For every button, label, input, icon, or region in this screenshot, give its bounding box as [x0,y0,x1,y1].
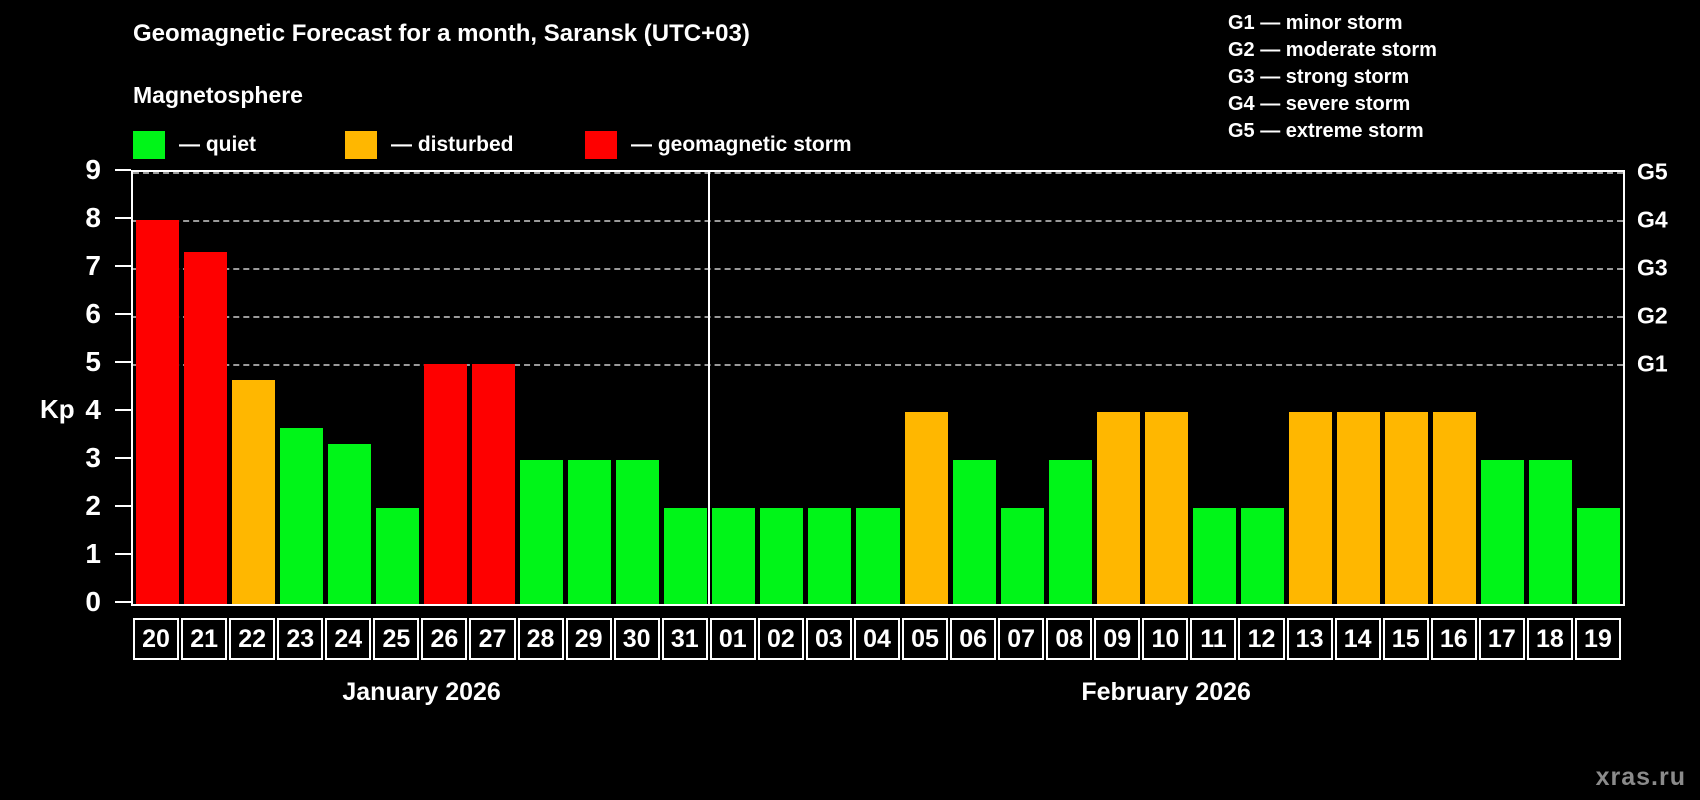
date-cell-25[interactable]: 25 [373,618,419,660]
bar-day-16[interactable] [1433,412,1476,604]
g-legend-row-2: G2 — moderate storm [1228,37,1437,64]
bar-day-03[interactable] [808,508,851,604]
bar-day-02[interactable] [760,508,803,604]
date-cell-04[interactable]: 04 [854,618,900,660]
bar-day-27[interactable] [472,364,515,604]
g-legend-row-4: G4 — severe storm [1228,91,1437,118]
y-tick-label-9: 9 [85,154,101,186]
bar-day-25[interactable] [376,508,419,604]
date-cell-14[interactable]: 14 [1335,618,1381,660]
y-tick-mark-2 [115,505,131,507]
date-cell-31[interactable]: 31 [662,618,708,660]
y-tick-label-1: 1 [85,538,101,570]
legend-swatch-quiet [133,131,165,159]
watermark: xras.ru [1596,763,1686,792]
g-scale-legend: G1 — minor stormG2 — moderate stormG3 — … [1228,10,1437,145]
month-caption-february: February 2026 [1081,678,1251,707]
bar-day-06[interactable] [953,460,996,604]
bar-day-01[interactable] [712,508,755,604]
date-cell-18[interactable]: 18 [1527,618,1573,660]
y-tick-mark-8 [115,217,131,219]
y-axis-title: Kp [40,394,75,425]
bar-day-08[interactable] [1049,460,1092,604]
date-cell-28[interactable]: 28 [518,618,564,660]
y-tick-mark-7 [115,265,131,267]
y-tick-label-8: 8 [85,202,101,234]
bar-day-19[interactable] [1577,508,1620,604]
date-cell-06[interactable]: 06 [950,618,996,660]
bar-day-18[interactable] [1529,460,1572,604]
y-tick-label-6: 6 [85,298,101,330]
date-cell-17[interactable]: 17 [1479,618,1525,660]
y-tick-label-3: 3 [85,442,101,474]
date-cell-05[interactable]: 05 [902,618,948,660]
bar-day-17[interactable] [1481,460,1524,604]
bar-day-15[interactable] [1385,412,1428,604]
date-cell-22[interactable]: 22 [229,618,275,660]
bar-day-28[interactable] [520,460,563,604]
g-axis-label-G5: G5 [1637,159,1668,186]
date-cell-10[interactable]: 10 [1142,618,1188,660]
g-axis-label-G4: G4 [1637,207,1668,234]
y-tick-mark-3 [115,457,131,459]
bar-day-21[interactable] [184,252,227,604]
date-cell-07[interactable]: 07 [998,618,1044,660]
date-cell-30[interactable]: 30 [614,618,660,660]
bar-day-04[interactable] [856,508,899,604]
legend-item-quiet: — quiet [133,130,256,160]
y-tick-mark-4 [115,409,131,411]
date-cell-11[interactable]: 11 [1190,618,1236,660]
legend-item-disturbed: — disturbed [345,130,514,160]
bar-day-24[interactable] [328,444,371,604]
date-cell-27[interactable]: 27 [469,618,515,660]
bar-day-29[interactable] [568,460,611,604]
date-cell-15[interactable]: 15 [1383,618,1429,660]
page-title: Geomagnetic Forecast for a month, Sarans… [133,20,750,48]
month-caption-january: January 2026 [342,678,500,707]
y-tick-mark-6 [115,313,131,315]
date-cell-08[interactable]: 08 [1046,618,1092,660]
y-axis: 0123456789 [0,170,131,606]
legend-label-geomagnetic-storm: — geomagnetic storm [631,133,852,157]
chart-subtitle: Magnetosphere [133,82,303,109]
date-cell-23[interactable]: 23 [277,618,323,660]
y-tick-mark-0 [115,601,131,603]
legend-label-quiet: — quiet [179,133,256,157]
date-cell-20[interactable]: 20 [133,618,179,660]
date-cell-01[interactable]: 01 [710,618,756,660]
bar-day-10[interactable] [1145,412,1188,604]
bar-day-11[interactable] [1193,508,1236,604]
bar-day-23[interactable] [280,428,323,604]
y-tick-mark-9 [115,169,131,171]
legend-swatch-disturbed [345,131,377,159]
bar-day-30[interactable] [616,460,659,604]
g-legend-row-5: G5 — extreme storm [1228,118,1437,145]
g-legend-row-1: G1 — minor storm [1228,10,1437,37]
bar-day-13[interactable] [1289,412,1332,604]
bar-day-20[interactable] [136,220,179,604]
chart-root: Geomagnetic Forecast for a month, Sarans… [0,0,1700,800]
date-cell-02[interactable]: 02 [758,618,804,660]
date-cell-12[interactable]: 12 [1238,618,1284,660]
date-cell-29[interactable]: 29 [566,618,612,660]
date-cell-13[interactable]: 13 [1287,618,1333,660]
y-tick-mark-1 [115,553,131,555]
g-axis-label-G2: G2 [1637,303,1668,330]
g-legend-row-3: G3 — strong storm [1228,64,1437,91]
bar-series [133,172,1623,604]
date-cell-03[interactable]: 03 [806,618,852,660]
date-cell-21[interactable]: 21 [181,618,227,660]
legend-swatch-geomagnetic-storm [585,131,617,159]
y-tick-label-4: 4 [85,394,101,426]
date-axis: 2021222324252627282930310102030405060708… [131,618,1625,660]
g-axis-label-G3: G3 [1637,255,1668,282]
bar-day-12[interactable] [1241,508,1284,604]
bar-day-07[interactable] [1001,508,1044,604]
date-cell-09[interactable]: 09 [1094,618,1140,660]
y-tick-label-2: 2 [85,490,101,522]
y-tick-label-0: 0 [85,586,101,618]
legend-item-geomagnetic-storm: — geomagnetic storm [585,130,852,160]
bar-day-31[interactable] [664,508,707,604]
bar-day-14[interactable] [1337,412,1380,604]
bar-day-22[interactable] [232,380,275,604]
bar-day-26[interactable] [424,364,467,604]
g-axis-label-G1: G1 [1637,351,1668,378]
bar-day-09[interactable] [1097,412,1140,604]
y-tick-mark-5 [115,361,131,363]
date-cell-26[interactable]: 26 [421,618,467,660]
y-tick-label-7: 7 [85,250,101,282]
date-cell-24[interactable]: 24 [325,618,371,660]
date-cell-19[interactable]: 19 [1575,618,1621,660]
bar-day-05[interactable] [905,412,948,604]
date-cell-16[interactable]: 16 [1431,618,1477,660]
y-tick-label-5: 5 [85,346,101,378]
legend-label-disturbed: — disturbed [391,133,514,157]
